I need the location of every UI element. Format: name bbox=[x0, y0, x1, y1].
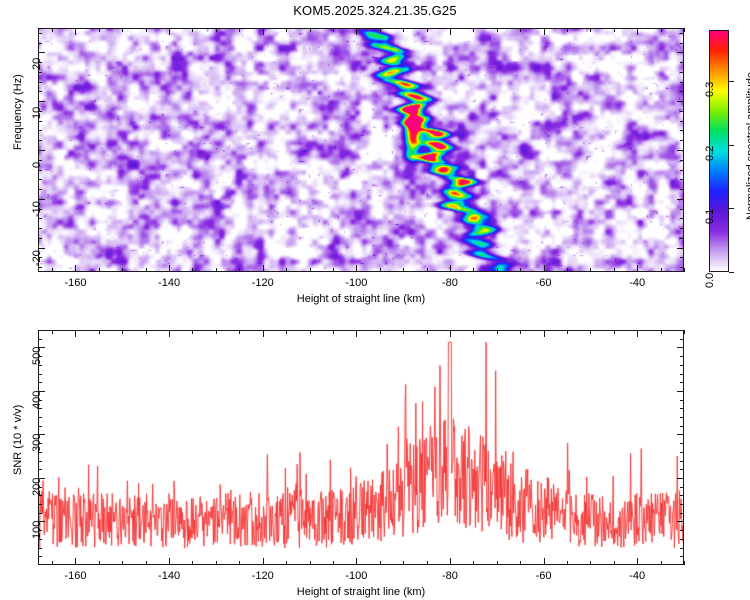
y-minor-tick bbox=[38, 267, 42, 268]
y-minor-tick bbox=[680, 443, 684, 444]
y-minor-tick bbox=[680, 356, 684, 357]
y-minor-tick bbox=[38, 469, 42, 470]
y-minor-tick bbox=[38, 43, 42, 44]
x-tick bbox=[75, 330, 76, 337]
x-minor-tick bbox=[122, 28, 123, 32]
y-minor-tick bbox=[38, 513, 42, 514]
y-minor-tick bbox=[680, 179, 684, 180]
x-minor-tick bbox=[216, 561, 217, 565]
y-minor-tick bbox=[680, 218, 684, 219]
x-minor-tick bbox=[216, 268, 217, 272]
x-minor-tick bbox=[567, 268, 568, 272]
x-tick bbox=[637, 558, 638, 565]
x-minor-tick bbox=[567, 561, 568, 565]
x-minor-tick bbox=[473, 28, 474, 32]
y-minor-tick bbox=[38, 91, 42, 92]
y-minor-tick bbox=[38, 160, 42, 161]
x-minor-tick bbox=[567, 28, 568, 32]
y-tick bbox=[677, 521, 684, 522]
x-tick bbox=[169, 265, 170, 272]
y-minor-tick bbox=[680, 504, 684, 505]
y-minor-tick bbox=[680, 469, 684, 470]
colorbar-tick-label: 0.3 bbox=[704, 67, 716, 97]
y-minor-tick bbox=[680, 228, 684, 229]
y-minor-tick bbox=[680, 400, 684, 401]
y-tick bbox=[677, 347, 684, 348]
x-tick bbox=[75, 265, 76, 272]
x-minor-tick bbox=[497, 330, 498, 334]
x-tick-label: -80 bbox=[430, 570, 470, 582]
y-minor-tick bbox=[680, 339, 684, 340]
x-minor-tick bbox=[216, 330, 217, 334]
y-minor-tick bbox=[38, 382, 42, 383]
y-minor-tick bbox=[680, 121, 684, 122]
x-minor-tick bbox=[520, 28, 521, 32]
y-minor-tick bbox=[680, 330, 684, 331]
y-tick bbox=[677, 101, 684, 102]
y-minor-tick bbox=[38, 443, 42, 444]
x-minor-tick bbox=[403, 561, 404, 565]
y-minor-tick bbox=[38, 452, 42, 453]
y-minor-tick bbox=[680, 160, 684, 161]
x-minor-tick bbox=[684, 561, 685, 565]
x-tick-label: -120 bbox=[243, 277, 283, 289]
x-minor-tick bbox=[403, 330, 404, 334]
x-minor-tick bbox=[239, 330, 240, 334]
y-minor-tick bbox=[680, 170, 684, 171]
y-minor-tick bbox=[680, 33, 684, 34]
y-minor-tick bbox=[38, 487, 42, 488]
y-minor-tick bbox=[680, 539, 684, 540]
y-minor-tick bbox=[38, 209, 42, 210]
y-minor-tick bbox=[38, 495, 42, 496]
x-minor-tick bbox=[52, 268, 53, 272]
x-minor-tick bbox=[310, 561, 311, 565]
x-tick bbox=[450, 558, 451, 565]
x-minor-tick bbox=[146, 268, 147, 272]
x-minor-tick bbox=[99, 561, 100, 565]
y-minor-tick bbox=[38, 374, 42, 375]
x-tick bbox=[544, 330, 545, 337]
x-minor-tick bbox=[122, 561, 123, 565]
x-minor-tick bbox=[333, 28, 334, 32]
y-minor-tick bbox=[680, 556, 684, 557]
x-minor-tick bbox=[286, 268, 287, 272]
y-minor-tick bbox=[38, 556, 42, 557]
x-minor-tick bbox=[403, 28, 404, 32]
x-tick-label: -100 bbox=[336, 570, 376, 582]
y-minor-tick bbox=[38, 111, 42, 112]
y-minor-tick bbox=[680, 382, 684, 383]
y-minor-tick bbox=[680, 111, 684, 112]
y-tick-label: 20 bbox=[31, 34, 43, 70]
figure-title: KOM5.2025.324.21.35.G25 bbox=[0, 3, 750, 18]
colorbar-label: Normalized spectral amplitude bbox=[745, 72, 750, 220]
x-tick-label: -60 bbox=[524, 277, 564, 289]
x-tick bbox=[544, 265, 545, 272]
x-tick bbox=[450, 28, 451, 35]
y-tick-label: 300 bbox=[31, 416, 43, 452]
y-minor-tick bbox=[38, 461, 42, 462]
y-minor-tick bbox=[680, 209, 684, 210]
y-minor-tick bbox=[38, 140, 42, 141]
x-tick-label: -140 bbox=[149, 570, 189, 582]
x-minor-tick bbox=[590, 28, 591, 32]
x-minor-tick bbox=[520, 330, 521, 334]
x-tick bbox=[356, 330, 357, 337]
colorbar-tick bbox=[729, 145, 734, 146]
x-tick bbox=[637, 330, 638, 337]
y-minor-tick bbox=[38, 179, 42, 180]
x-minor-tick bbox=[614, 561, 615, 565]
y-tick bbox=[677, 199, 684, 200]
y-minor-tick bbox=[680, 72, 684, 73]
colorbar-tick bbox=[729, 208, 734, 209]
x-minor-tick bbox=[310, 268, 311, 272]
y-minor-tick bbox=[680, 91, 684, 92]
x-minor-tick bbox=[192, 561, 193, 565]
colorbar-tick bbox=[729, 81, 734, 82]
y-minor-tick bbox=[680, 62, 684, 63]
spectrogram-frame bbox=[38, 28, 684, 272]
y-tick-label: 100 bbox=[31, 503, 43, 539]
x-minor-tick bbox=[286, 561, 287, 565]
y-minor-tick bbox=[38, 400, 42, 401]
x-tick bbox=[263, 330, 264, 337]
y-minor-tick bbox=[38, 365, 42, 366]
x-tick-label: -140 bbox=[149, 277, 189, 289]
y-minor-tick bbox=[38, 228, 42, 229]
x-tick bbox=[356, 28, 357, 35]
x-minor-tick bbox=[684, 330, 685, 334]
x-tick-label: -60 bbox=[524, 570, 564, 582]
x-minor-tick bbox=[52, 561, 53, 565]
x-minor-tick bbox=[497, 561, 498, 565]
y-minor-tick bbox=[38, 72, 42, 73]
x-minor-tick bbox=[497, 28, 498, 32]
colorbar-tick-label: 0.2 bbox=[704, 131, 716, 161]
x-tick bbox=[169, 330, 170, 337]
x-minor-tick bbox=[99, 28, 100, 32]
snr-x-axis-label: Height of straight line (km) bbox=[0, 586, 722, 598]
y-minor-tick bbox=[38, 548, 42, 549]
y-minor-tick bbox=[680, 140, 684, 141]
y-minor-tick bbox=[680, 130, 684, 131]
y-tick bbox=[677, 248, 684, 249]
x-minor-tick bbox=[427, 28, 428, 32]
x-minor-tick bbox=[590, 330, 591, 334]
y-tick-label: 400 bbox=[31, 373, 43, 409]
x-minor-tick bbox=[520, 268, 521, 272]
x-minor-tick bbox=[567, 330, 568, 334]
y-minor-tick bbox=[38, 170, 42, 171]
x-minor-tick bbox=[614, 330, 615, 334]
y-minor-tick bbox=[680, 452, 684, 453]
y-minor-tick bbox=[680, 487, 684, 488]
y-minor-tick bbox=[680, 461, 684, 462]
x-minor-tick bbox=[380, 28, 381, 32]
y-minor-tick bbox=[38, 339, 42, 340]
y-minor-tick bbox=[680, 43, 684, 44]
x-tick-label: -40 bbox=[617, 570, 657, 582]
x-minor-tick bbox=[403, 268, 404, 272]
x-minor-tick bbox=[216, 28, 217, 32]
y-minor-tick bbox=[680, 513, 684, 514]
x-tick bbox=[637, 265, 638, 272]
y-tick-label: -20 bbox=[31, 230, 43, 266]
x-tick-label: -80 bbox=[430, 277, 470, 289]
y-minor-tick bbox=[680, 374, 684, 375]
y-minor-tick bbox=[38, 257, 42, 258]
x-minor-tick bbox=[614, 28, 615, 32]
y-minor-tick bbox=[680, 267, 684, 268]
y-minor-tick bbox=[38, 82, 42, 83]
colorbar-tick-label: 0.0 bbox=[704, 258, 716, 288]
figure-root: KOM5.2025.324.21.35.G25 -160-140-120-100… bbox=[0, 0, 750, 600]
spectrogram-y-axis-label: Frequency (Hz) bbox=[12, 74, 24, 150]
x-minor-tick bbox=[333, 330, 334, 334]
x-minor-tick bbox=[684, 28, 685, 32]
x-minor-tick bbox=[192, 28, 193, 32]
y-tick-label: -10 bbox=[31, 181, 43, 217]
x-minor-tick bbox=[52, 28, 53, 32]
y-tick bbox=[677, 150, 684, 151]
y-minor-tick bbox=[38, 426, 42, 427]
snr-frame bbox=[38, 330, 684, 565]
x-minor-tick bbox=[192, 330, 193, 334]
x-minor-tick bbox=[661, 28, 662, 32]
x-tick bbox=[356, 265, 357, 272]
x-tick bbox=[263, 558, 264, 565]
x-minor-tick bbox=[122, 330, 123, 334]
y-minor-tick bbox=[680, 548, 684, 549]
x-minor-tick bbox=[427, 268, 428, 272]
y-tick-label: 200 bbox=[31, 460, 43, 496]
y-minor-tick bbox=[680, 189, 684, 190]
y-minor-tick bbox=[38, 330, 42, 331]
y-minor-tick bbox=[38, 408, 42, 409]
x-minor-tick bbox=[590, 268, 591, 272]
x-minor-tick bbox=[590, 561, 591, 565]
y-minor-tick bbox=[38, 218, 42, 219]
y-tick-label: 10 bbox=[31, 83, 43, 119]
x-minor-tick bbox=[239, 561, 240, 565]
x-minor-tick bbox=[99, 330, 100, 334]
snr-y-axis-label: SNR (10 * v/v) bbox=[12, 405, 24, 475]
x-minor-tick bbox=[380, 268, 381, 272]
y-minor-tick bbox=[38, 539, 42, 540]
x-minor-tick bbox=[239, 268, 240, 272]
x-tick bbox=[356, 558, 357, 565]
x-minor-tick bbox=[380, 561, 381, 565]
x-tick bbox=[637, 28, 638, 35]
x-minor-tick bbox=[146, 330, 147, 334]
y-minor-tick bbox=[38, 238, 42, 239]
y-tick-label: 500 bbox=[31, 329, 43, 365]
x-minor-tick bbox=[684, 268, 685, 272]
x-minor-tick bbox=[380, 330, 381, 334]
x-tick bbox=[450, 265, 451, 272]
x-minor-tick bbox=[192, 268, 193, 272]
spectrogram-panel bbox=[38, 28, 684, 272]
y-minor-tick bbox=[680, 365, 684, 366]
y-minor-tick bbox=[680, 495, 684, 496]
y-tick-label: 0 bbox=[31, 132, 43, 168]
x-tick-label: -100 bbox=[336, 277, 376, 289]
y-minor-tick bbox=[680, 530, 684, 531]
x-minor-tick bbox=[286, 330, 287, 334]
y-minor-tick bbox=[38, 530, 42, 531]
x-minor-tick bbox=[146, 28, 147, 32]
x-minor-tick bbox=[427, 330, 428, 334]
x-tick-label: -120 bbox=[243, 570, 283, 582]
y-tick bbox=[677, 391, 684, 392]
y-minor-tick bbox=[680, 257, 684, 258]
x-minor-tick bbox=[310, 28, 311, 32]
x-minor-tick bbox=[497, 268, 498, 272]
y-minor-tick bbox=[680, 417, 684, 418]
x-tick bbox=[75, 558, 76, 565]
x-minor-tick bbox=[427, 561, 428, 565]
y-minor-tick bbox=[38, 121, 42, 122]
x-minor-tick bbox=[661, 330, 662, 334]
x-minor-tick bbox=[661, 561, 662, 565]
y-tick bbox=[677, 52, 684, 53]
x-tick bbox=[75, 28, 76, 35]
y-minor-tick bbox=[680, 238, 684, 239]
x-minor-tick bbox=[99, 268, 100, 272]
x-minor-tick bbox=[661, 268, 662, 272]
y-minor-tick bbox=[680, 408, 684, 409]
x-tick-label: -160 bbox=[55, 570, 95, 582]
x-minor-tick bbox=[520, 561, 521, 565]
colorbar-tick bbox=[729, 272, 734, 273]
x-minor-tick bbox=[122, 268, 123, 272]
y-minor-tick bbox=[680, 426, 684, 427]
x-tick-label: -160 bbox=[55, 277, 95, 289]
y-tick bbox=[677, 434, 684, 435]
snr-panel bbox=[38, 330, 684, 565]
y-minor-tick bbox=[38, 62, 42, 63]
x-minor-tick bbox=[473, 330, 474, 334]
x-tick bbox=[450, 330, 451, 337]
x-minor-tick bbox=[614, 268, 615, 272]
x-tick bbox=[263, 28, 264, 35]
y-minor-tick bbox=[38, 130, 42, 131]
x-tick bbox=[544, 558, 545, 565]
spectrogram-x-axis-label: Height of straight line (km) bbox=[0, 293, 722, 305]
x-tick bbox=[263, 265, 264, 272]
y-minor-tick bbox=[38, 417, 42, 418]
x-minor-tick bbox=[473, 561, 474, 565]
x-minor-tick bbox=[146, 561, 147, 565]
colorbar-tick-label: 0.1 bbox=[704, 194, 716, 224]
x-minor-tick bbox=[310, 330, 311, 334]
x-tick bbox=[169, 558, 170, 565]
x-minor-tick bbox=[333, 561, 334, 565]
x-minor-tick bbox=[52, 330, 53, 334]
x-minor-tick bbox=[473, 268, 474, 272]
y-minor-tick bbox=[680, 82, 684, 83]
y-minor-tick bbox=[38, 356, 42, 357]
y-minor-tick bbox=[38, 33, 42, 34]
y-minor-tick bbox=[38, 189, 42, 190]
x-tick-label: -40 bbox=[617, 277, 657, 289]
x-minor-tick bbox=[286, 28, 287, 32]
x-tick bbox=[544, 28, 545, 35]
y-tick bbox=[677, 478, 684, 479]
x-minor-tick bbox=[239, 28, 240, 32]
y-minor-tick bbox=[38, 504, 42, 505]
x-minor-tick bbox=[333, 268, 334, 272]
x-tick bbox=[169, 28, 170, 35]
